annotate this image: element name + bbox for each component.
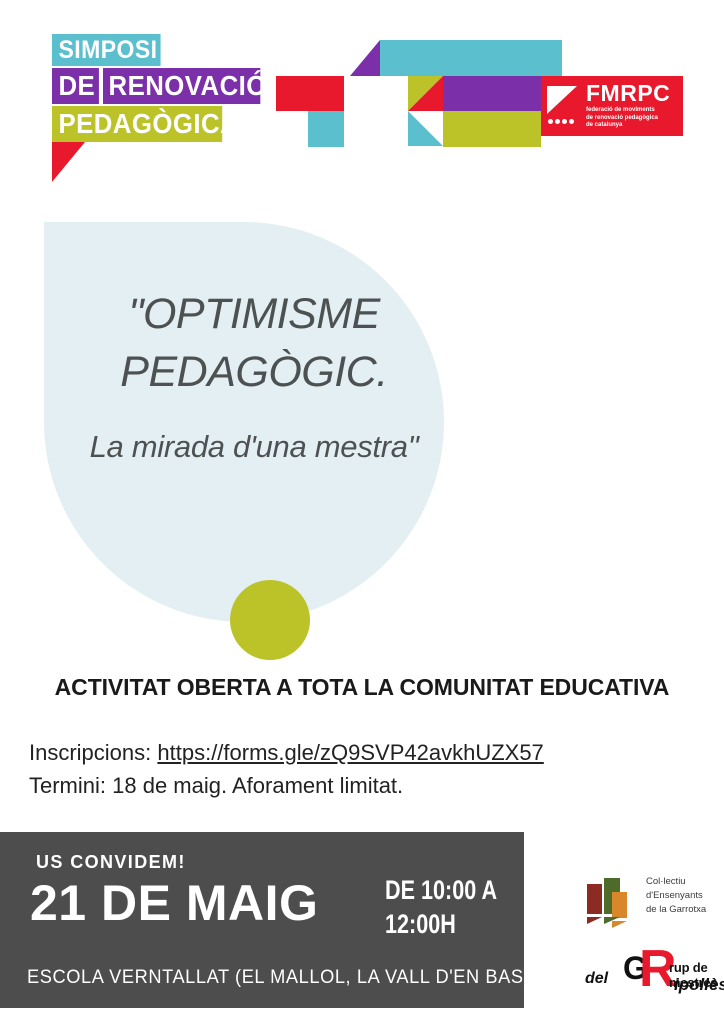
registration-row: Inscripcions: https://forms.gle/zQ9SVP42… — [29, 736, 544, 769]
event-date: 21 DE MAIG — [30, 876, 318, 931]
book-orange-icon — [612, 892, 627, 918]
ripolles-ipolles: ipollès — [674, 975, 724, 995]
event-time-line-2: 12:00H — [385, 908, 497, 942]
fmrpc-mark-icon — [547, 86, 581, 126]
ripolles-del: del — [585, 970, 608, 988]
geo-red-triangle — [408, 76, 443, 111]
geometric-pattern — [262, 30, 562, 170]
geo-red-rect — [276, 76, 344, 111]
fmrpc-dots-icon — [548, 119, 574, 124]
hero-title-line-1: "OPTIMISME — [44, 285, 464, 343]
event-venue: ESCOLA VERNTALLAT (EL MALLOL, LA VALL D'… — [27, 967, 530, 989]
garrotxa-logo: Col·lectiu d'Ensenyants de la Garrotxa — [585, 868, 720, 924]
hero-title-block: "OPTIMISME PEDAGÒGIC. La mirada d'una me… — [44, 285, 464, 465]
simposi-logo-line-pedagogica: PEDAGÒGICA — [52, 106, 222, 142]
fmrpc-acronym: FMRPC — [586, 82, 670, 105]
geo-olive-rect — [443, 111, 541, 147]
olive-dot-decoration — [230, 580, 310, 660]
simposi-logo-line-de: DE — [52, 68, 99, 104]
hero-title-line-2: PEDAGÒGIC. — [44, 343, 464, 401]
garrotxa-text: Col·lectiu d'Ensenyants de la Garrotxa — [646, 875, 706, 916]
fmrpc-text: FMRPC federació de moviments de renovaci… — [586, 82, 670, 131]
simposi-logo-line-renovacio: RENOVACIÓ — [103, 68, 260, 104]
hero-subtitle: La mirada d'una mestra" — [44, 429, 464, 465]
fmrpc-subtitle-1: federació de moviments — [586, 107, 670, 115]
registration-block: Inscripcions: https://forms.gle/zQ9SVP42… — [29, 736, 544, 802]
fmrpc-subtitle-3: de catalunya — [586, 122, 670, 130]
geo-cyan-triangle — [408, 111, 443, 146]
event-time: DE 10:00 A 12:00H — [385, 874, 497, 942]
poster-header: SIMPOSI DE RENOVACIÓ PEDAGÒGICA — [0, 0, 724, 200]
fmrpc-triangle-icon — [547, 86, 577, 114]
fmrpc-logo: FMRPC federació de moviments de renovaci… — [541, 76, 683, 136]
geo-purple-rect — [443, 76, 541, 111]
geo-cyan-square — [308, 111, 344, 147]
garrotxa-line-2: d'Ensenyants — [646, 889, 706, 903]
registration-link[interactable]: https://forms.gle/zQ9SVP42avkhUZX57 — [157, 740, 543, 765]
open-activity-text: ACTIVITAT OBERTA A TOTA LA COMUNITAT EDU… — [0, 674, 724, 701]
simposi-logo-line-simposi: SIMPOSI — [52, 34, 161, 66]
simposi-logo: SIMPOSI DE RENOVACIÓ PEDAGÒGICA — [44, 34, 274, 184]
books-icon — [585, 874, 641, 918]
ripolles-logo: del G R rup de mestres ipollès — [582, 940, 722, 1002]
fmrpc-subtitle-2: de renovació pedagògica — [586, 115, 670, 123]
event-details-band: US CONVIDEM! 21 DE MAIG DE 10:00 A 12:00… — [0, 832, 524, 1008]
red-triangle-icon — [52, 142, 85, 182]
registration-label: Inscripcions: — [29, 740, 157, 765]
invite-text: US CONVIDEM! — [36, 852, 186, 873]
event-time-line-1: DE 10:00 A — [385, 874, 497, 908]
deadline-text: Termini: 18 de maig. Aforament limitat. — [29, 769, 544, 802]
geo-purple-triangle — [350, 40, 380, 76]
geo-cyan-bar — [380, 40, 562, 76]
poster-root: SIMPOSI DE RENOVACIÓ PEDAGÒGICA — [0, 0, 724, 1024]
garrotxa-line-3: de la Garrotxa — [646, 903, 706, 917]
book-red-icon — [587, 884, 602, 914]
garrotxa-line-1: Col·lectiu — [646, 875, 706, 889]
